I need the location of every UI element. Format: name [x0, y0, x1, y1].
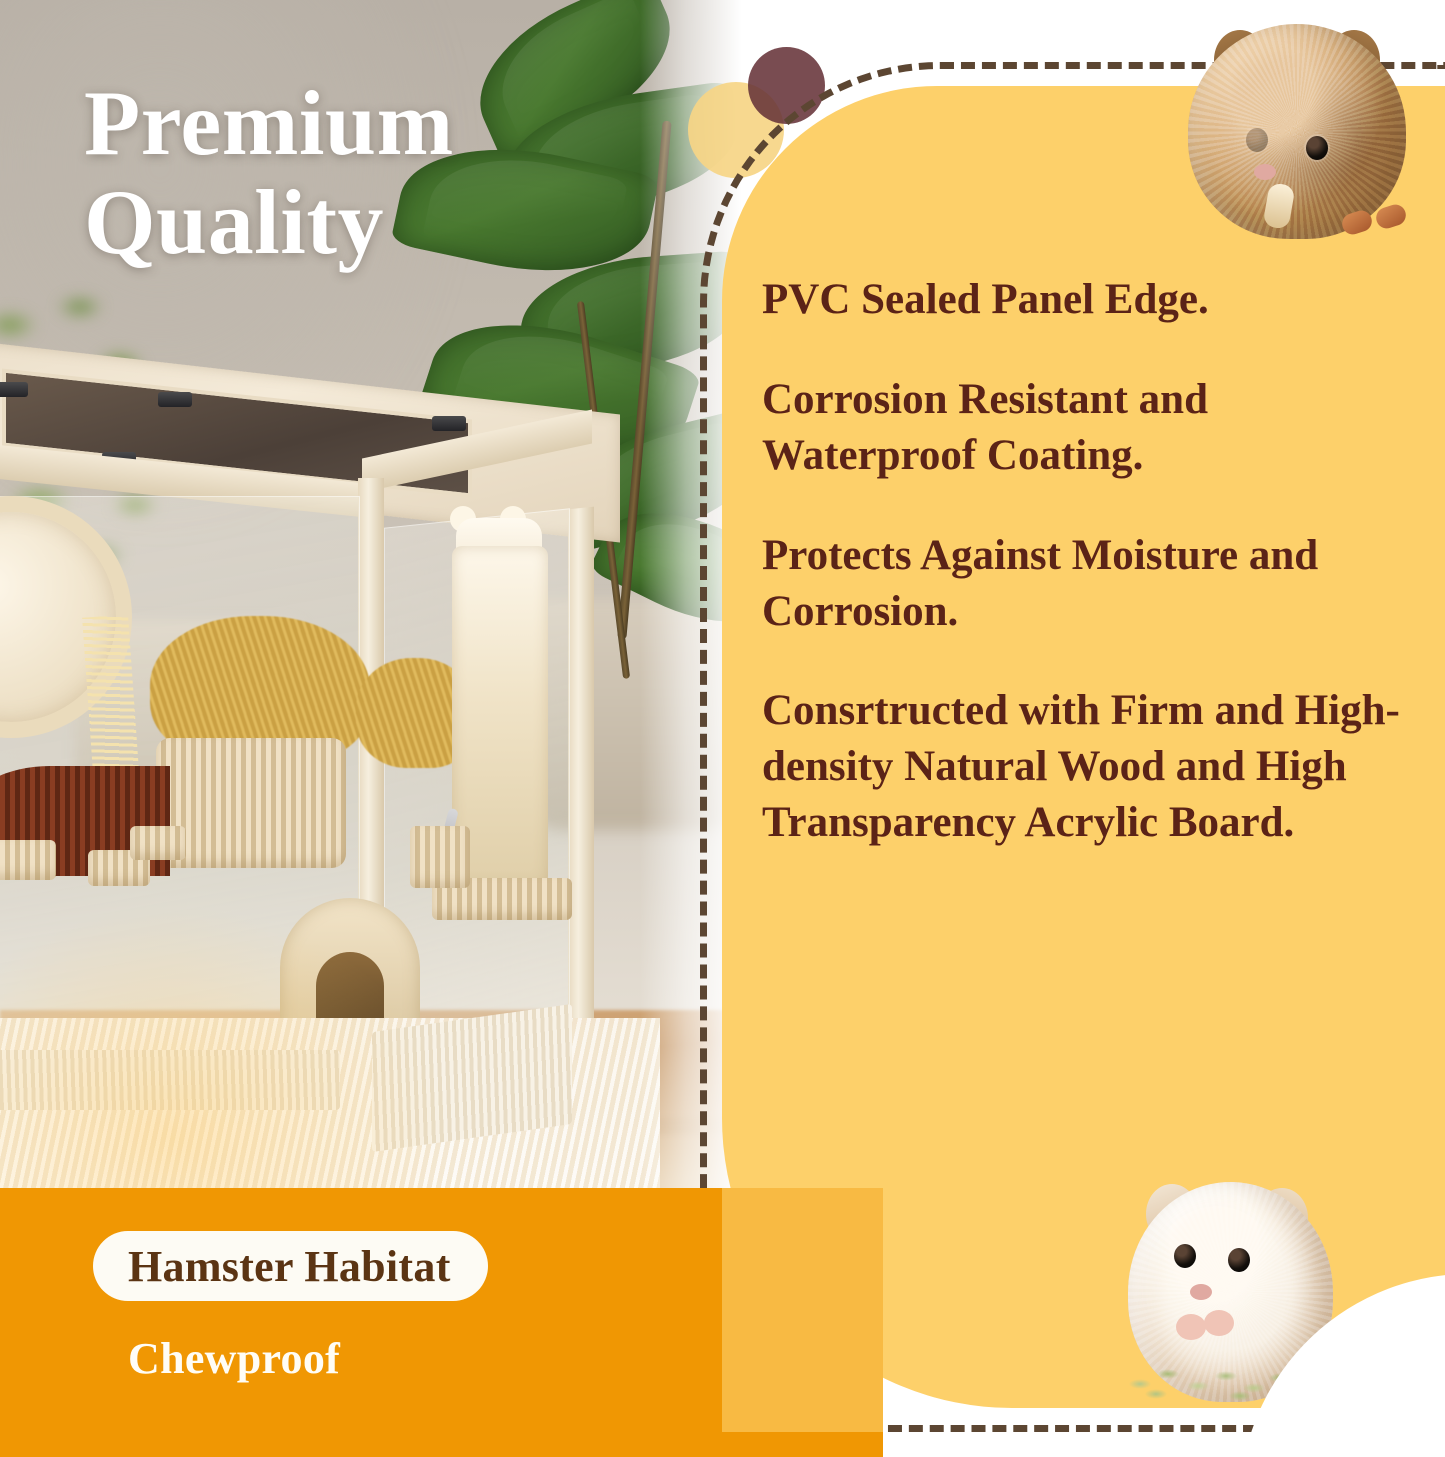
orange-yellow-overlap	[722, 1188, 883, 1432]
cage-hinge-2	[158, 392, 192, 407]
wood-ledge-left	[0, 840, 56, 880]
badge-subtitle: Chewproof	[128, 1333, 340, 1384]
headline-line-2: Quality	[84, 173, 704, 272]
hamster-top-body	[1188, 24, 1406, 239]
hamster-top-nose	[1254, 164, 1276, 180]
hamster-cage-product	[0, 378, 660, 1208]
badge-title: Hamster Habitat	[128, 1241, 688, 1292]
feature-item-2: Corrosion Resistant and Waterproof Coati…	[762, 372, 1422, 484]
hamster-top-photo	[1188, 24, 1406, 239]
decor-circle-maroon	[748, 47, 825, 124]
cage-hinge-3	[432, 416, 466, 431]
cage-hinge-1	[0, 382, 28, 397]
hamster-top-fur-texture	[1188, 24, 1406, 239]
feature-item-1: PVC Sealed Panel Edge.	[762, 272, 1422, 328]
wood-step-2	[130, 826, 186, 860]
hamster-bottom-paw-right	[1204, 1310, 1234, 1336]
hamster-top-eye-left	[1246, 128, 1268, 152]
hamster-bottom-eye-right	[1228, 1248, 1250, 1272]
hamster-bottom-paw-left	[1176, 1314, 1206, 1340]
feature-item-4: Consrtructed with Firm and High-density …	[762, 683, 1422, 851]
page-title: Premium Quality	[84, 74, 704, 273]
hamster-top-eye-right	[1306, 136, 1328, 160]
feature-list: PVC Sealed Panel Edge. Corrosion Resista…	[762, 272, 1422, 851]
infographic-canvas: Premium Quality PVC Sealed Panel Edge. C…	[0, 0, 1445, 1457]
hamster-bottom-nose	[1190, 1284, 1212, 1300]
wooden-arch-house	[280, 898, 420, 1038]
headline-line-1: Premium	[84, 72, 454, 174]
bedding-litter-front	[0, 1050, 340, 1110]
small-wood-posts	[410, 826, 470, 888]
hamster-bottom-eye-left	[1174, 1244, 1196, 1268]
feature-item-3: Protects Against Moisture and Corrosion.	[762, 528, 1422, 640]
